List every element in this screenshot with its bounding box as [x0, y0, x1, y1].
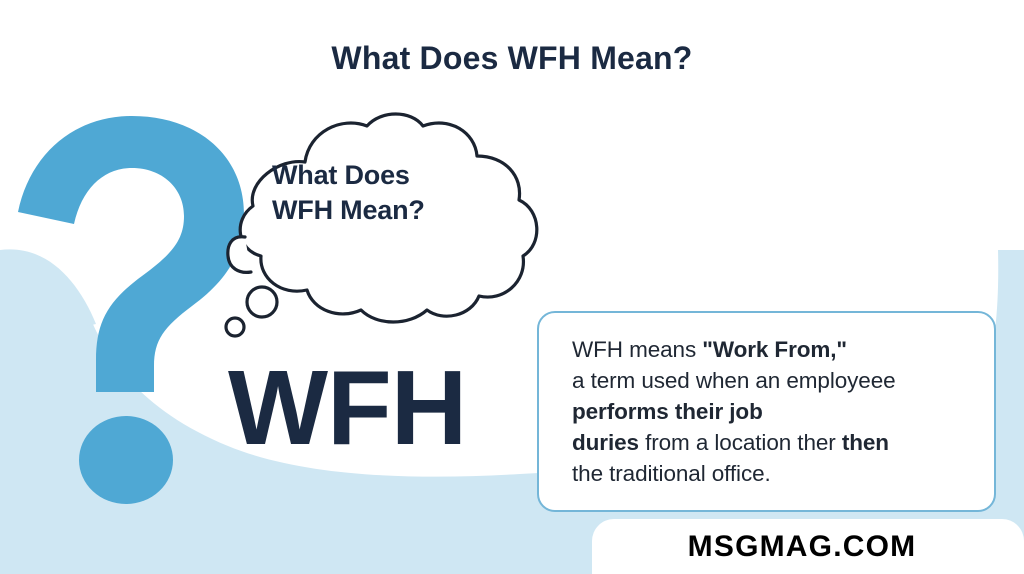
- page-title: What Does WFH Mean?: [0, 40, 1024, 77]
- definition-line-4-bold-a: duries: [572, 430, 639, 455]
- thought-bubble-line-1: What Does: [272, 158, 502, 193]
- definition-line-1-regular: WFH means: [572, 337, 702, 362]
- wfh-wordmark: WFH: [228, 355, 466, 461]
- thought-bubble-text: What Does WFH Mean?: [272, 158, 502, 228]
- definition-line-5: the traditional office.: [572, 458, 980, 489]
- definition-card: WFH means "Work From," a term used when …: [537, 311, 996, 512]
- definition-line-1: WFH means "Work From,": [572, 334, 980, 365]
- thought-bubble-line-2: WFH Mean?: [272, 193, 502, 228]
- definition-line-3: performs their job: [572, 396, 980, 427]
- definition-line-2: a term used when an employeee: [572, 365, 980, 396]
- definition-line-5-regular: the traditional office.: [572, 461, 771, 486]
- definition-line-4-bold-b: then: [842, 430, 889, 455]
- definition-line-3-bold: performs their job: [572, 399, 763, 424]
- definition-line-2-regular: a term used when an employeee: [572, 368, 896, 393]
- definition-text: WFH means "Work From," a term used when …: [572, 334, 980, 489]
- definition-line-4-regular: from a location ther: [639, 430, 842, 455]
- infographic-canvas: What Does WFH Mean? WFH What Does WFH Me…: [0, 0, 1024, 574]
- definition-line-4: duries from a location ther then: [572, 427, 980, 458]
- definition-line-1-bold: "Work From,": [702, 337, 847, 362]
- thought-bubble: [205, 110, 550, 350]
- footer-logo: MSGMAG.COM: [592, 530, 1012, 564]
